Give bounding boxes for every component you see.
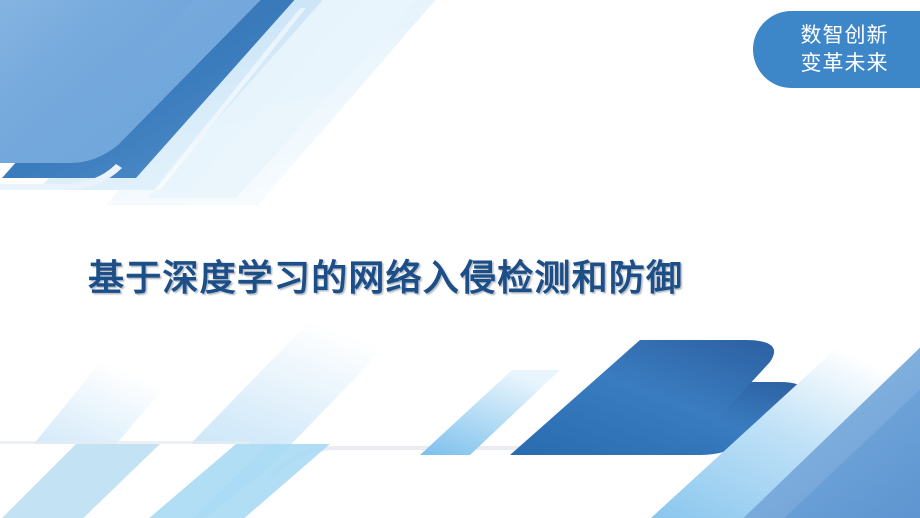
page-title: 基于深度学习的网络入侵检测和防御	[88, 255, 768, 301]
brand-badge-line-1: 数智创新	[801, 22, 889, 50]
bottom-divider-line	[0, 441, 250, 444]
brand-badge-line-2: 变革未来	[801, 50, 889, 78]
brand-badge: 数智创新 变革未来	[753, 11, 920, 88]
slide-canvas: 数智创新 变革未来 基于深度学习的网络入侵检测和防御	[0, 0, 920, 518]
